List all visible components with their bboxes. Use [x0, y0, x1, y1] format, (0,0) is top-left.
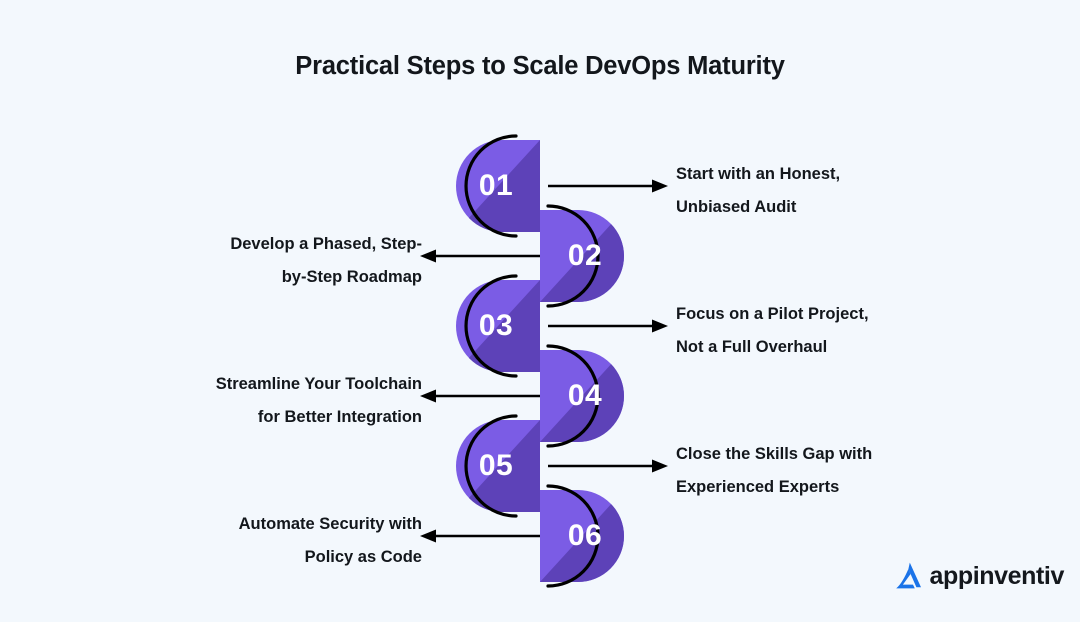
step-label-line1-05: Close the Skills Gap with [676, 438, 926, 471]
step-label-line1-06: Automate Security with [172, 508, 422, 541]
step-badge-05: 05 [456, 420, 540, 512]
step-number-02: 02 [540, 210, 624, 302]
step-badge-03: 03 [456, 280, 540, 372]
step-badge-01: 01 [456, 140, 540, 232]
step-label-line1-03: Focus on a Pilot Project, [676, 298, 926, 331]
connector-arrow-right-05 [548, 458, 668, 474]
step-number-06: 06 [540, 490, 624, 582]
step-number-03: 03 [456, 280, 540, 372]
step-label-06: Automate Security with Policy as Code [172, 508, 422, 574]
infographic-canvas: Practical Steps to Scale DevOps Maturity… [0, 0, 1080, 622]
step-number-01: 01 [456, 140, 540, 232]
step-label-line1-04: Streamline Your Toolchain [172, 368, 422, 401]
connector-arrow-left-04 [420, 388, 540, 404]
step-badge-04: 04 [540, 350, 624, 442]
connector-arrow-left-06 [420, 528, 540, 544]
brand-name: appinventiv [929, 562, 1064, 591]
step-label-line1-02: Develop a Phased, Step- [172, 228, 422, 261]
page-title: Practical Steps to Scale DevOps Maturity [0, 52, 1080, 81]
connector-arrow-left-02 [420, 248, 540, 264]
brand-logo: appinventiv [892, 557, 1064, 596]
step-number-05: 05 [456, 420, 540, 512]
appinventiv-logo-icon [892, 557, 926, 596]
step-badge-06: 06 [540, 490, 624, 582]
step-label-line1-01: Start with an Honest, [676, 158, 926, 191]
step-number-04: 04 [540, 350, 624, 442]
connector-arrow-right-03 [548, 318, 668, 334]
step-label-line2-06: Policy as Code [172, 541, 422, 574]
step-badge-02: 02 [540, 210, 624, 302]
connector-arrow-right-01 [548, 178, 668, 194]
